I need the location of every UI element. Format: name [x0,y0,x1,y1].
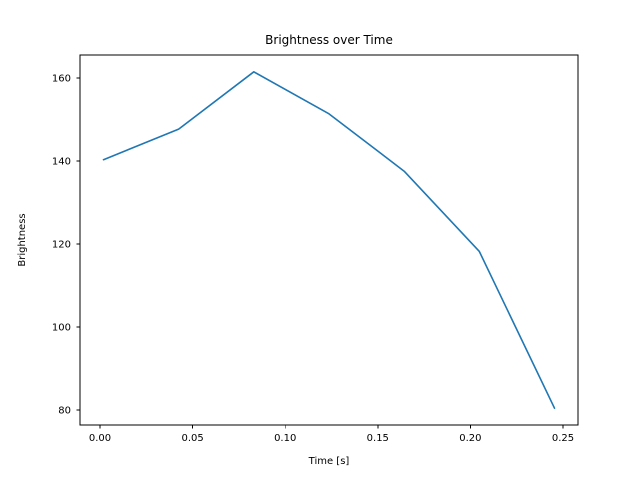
y-tick-label: 160 [52,74,71,85]
line-chart: Brightness over Time 160 140 120 100 80 … [0,0,640,480]
figure-canvas: Brightness over Time 160 140 120 100 80 … [0,0,640,480]
y-tick-label: 120 [52,240,71,251]
x-tick-label: 0.00 [89,433,111,444]
y-tick-label: 100 [52,323,71,334]
chart-title: Brightness over Time [265,33,393,47]
x-tick-label: 0.25 [552,433,574,444]
x-axis-label: Time [s] [308,456,350,467]
y-axis-label: Brightness [17,213,28,266]
x-tick-label: 0.10 [274,433,296,444]
x-tick-label: 0.15 [367,433,389,444]
x-tick-label: 0.20 [459,433,481,444]
figure-background [0,0,640,480]
y-tick-label: 140 [52,157,71,168]
y-tick-label: 80 [58,406,71,417]
x-tick-label: 0.05 [181,433,203,444]
